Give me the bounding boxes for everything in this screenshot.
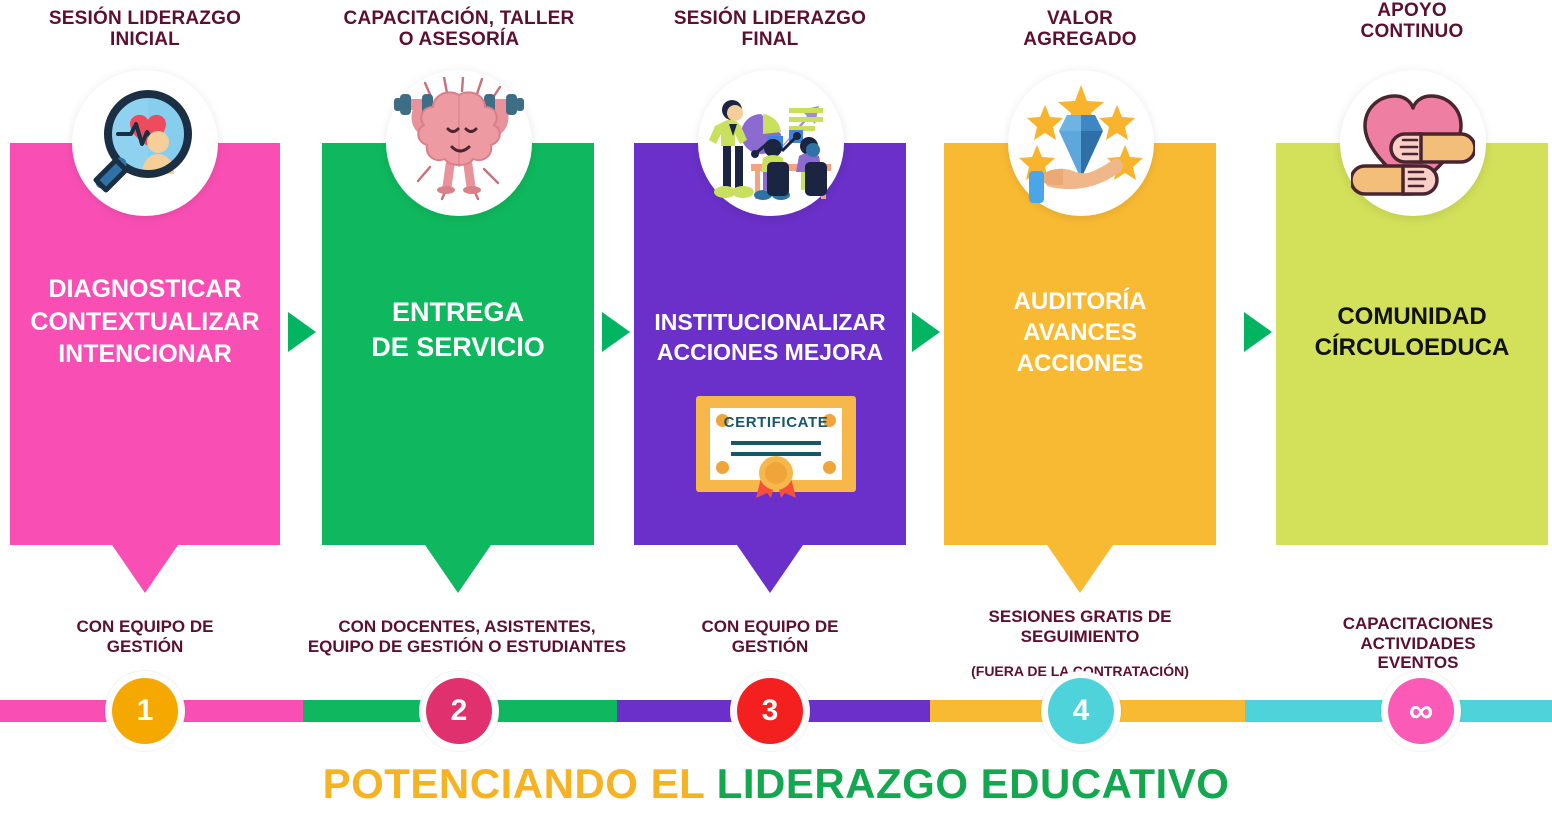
block-label-2: ENTREGA DE SERVICIO [322, 295, 594, 365]
page-title-part2: LIDERAZGO EDUCATIVO [717, 760, 1230, 807]
hands-hugging-heart-icon [1351, 82, 1475, 205]
timeline-node-label-4: 4 [1073, 694, 1090, 728]
timeline-seg-4 [492, 700, 617, 722]
timeline-node-label-3: 3 [762, 694, 779, 728]
column-header-3: SESIÓN LIDERAZGO FINAL [630, 8, 910, 51]
timeline-seg-7 [930, 700, 1048, 722]
timeline-seg-9 [1245, 700, 1386, 722]
connector-arrow-3 [912, 312, 940, 352]
hand-diamond-stars-icon [1019, 79, 1143, 208]
certificate-corner-br [823, 461, 836, 474]
block-tip-4 [1047, 545, 1113, 593]
block-tip-1 [112, 545, 178, 593]
meeting-presentation-icon [705, 78, 837, 209]
timeline-seg-2 [178, 700, 303, 722]
connector-arrow-2 [602, 312, 630, 352]
icon-disc-4 [1008, 70, 1154, 216]
footnote-4-extra: (FUERA DE LA CONTRATACIÓN) [950, 663, 1210, 679]
timeline-node-1[interactable]: 1 [112, 678, 178, 744]
footnote-2: CON DOCENTES, ASISTENTES, EQUIPO DE GEST… [272, 617, 662, 656]
timeline-node-5[interactable]: ∞ [1388, 678, 1454, 744]
timeline-node-4[interactable]: 4 [1048, 678, 1114, 744]
timeline-seg-1 [0, 700, 112, 722]
timeline-node-label-2: 2 [451, 694, 468, 728]
certificate-title: CERTIFICATE [696, 414, 856, 431]
icon-disc-2 [386, 70, 532, 216]
connector-arrow-4 [1244, 312, 1272, 352]
magnifier-heart-person-icon [86, 82, 204, 205]
column-header-1: SESIÓN LIDERAZGO INICIAL [10, 8, 280, 51]
certificate-line-1 [731, 441, 821, 445]
timeline-seg-3 [303, 700, 426, 722]
footnote-5: CAPACITACIONES ACTIVIDADES EVENTOS [1288, 614, 1548, 673]
block-tip-2 [425, 545, 491, 593]
block-label-4: AUDITORÍA AVANCES ACCIONES [944, 286, 1216, 380]
footnote-3: CON EQUIPO DE GESTIÓN [640, 617, 900, 656]
timeline-node-2[interactable]: 2 [426, 678, 492, 744]
block-label-3: INSTITUCIONALIZAR ACCIONES MEJORA [634, 308, 906, 368]
brain-dumbbell-icon [392, 77, 526, 210]
column-header-4: VALOR AGREGADO [940, 8, 1220, 51]
timeline-node-3[interactable]: 3 [737, 678, 803, 744]
icon-disc-1 [72, 70, 218, 216]
icon-disc-3 [698, 70, 844, 216]
certificate-ribbon [754, 454, 798, 500]
block-label-5: COMUNIDAD CÍRCULOEDUCA [1276, 301, 1548, 363]
footnote-4: SESIONES GRATIS DE SEGUIMIENTO [950, 607, 1210, 646]
infographic-canvas: SESIÓN LIDERAZGO INICIAL CAPACITACIÓN, T… [0, 0, 1552, 818]
block-tip-3 [737, 545, 803, 593]
timeline-node-label-1: 1 [137, 694, 154, 728]
page-title: POTENCIANDO EL LIDERAZGO EDUCATIVO [0, 760, 1552, 808]
timeline-node-label-5: ∞ [1409, 692, 1433, 731]
icon-disc-5 [1340, 70, 1486, 216]
footnote-1: CON EQUIPO DE GESTIÓN [15, 617, 275, 656]
connector-arrow-1 [288, 312, 316, 352]
column-header-5: APOYO CONTINUO [1272, 0, 1552, 43]
timeline-seg-5 [617, 700, 737, 722]
column-header-2: CAPACITACIÓN, TALLER O ASESORÍA [318, 8, 600, 51]
certificate-graphic: CERTIFICATE [696, 396, 856, 492]
page-title-part1: POTENCIANDO EL [323, 760, 717, 807]
timeline-seg-6 [804, 700, 930, 722]
timeline-seg-10 [1455, 700, 1552, 722]
certificate-corner-bl [716, 461, 729, 474]
timeline-seg-8 [1113, 700, 1245, 722]
block-label-1: DIAGNOSTICAR CONTEXTUALIZAR INTENCIONAR [10, 273, 280, 371]
